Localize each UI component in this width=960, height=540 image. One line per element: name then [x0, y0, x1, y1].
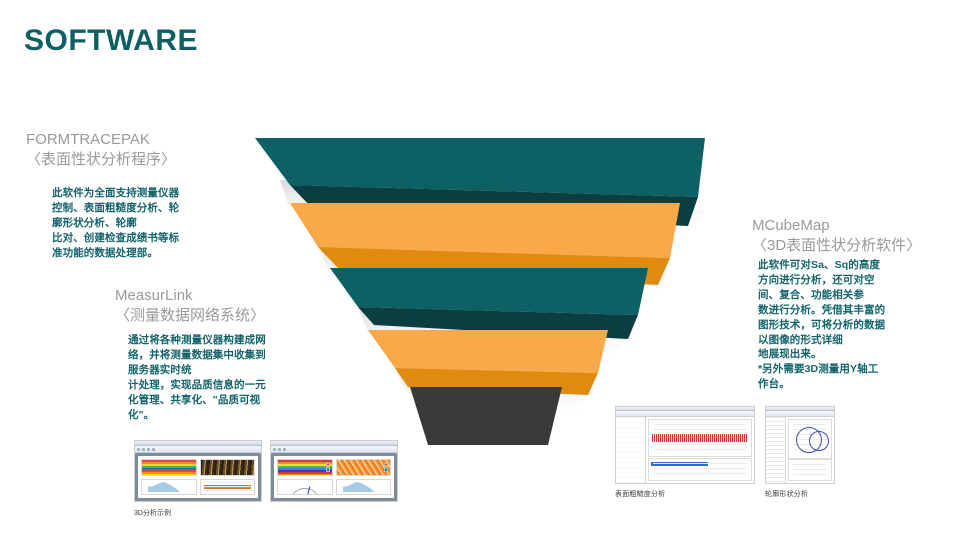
- color-scale-bar: [384, 463, 388, 472]
- results-gridlines: [793, 464, 827, 476]
- screenshot-paper: [138, 456, 258, 498]
- profile-table: [200, 479, 256, 496]
- toolbar-icon: [152, 448, 155, 451]
- tree-panel: [766, 417, 786, 483]
- polar-gauge-plot: [277, 479, 333, 496]
- thumbnail-caption-roughness: 表面粗糙度分析: [615, 489, 755, 499]
- toolbar-icon: [137, 448, 140, 451]
- results-gridlines: [653, 463, 747, 476]
- page-title: SOFTWARE: [24, 24, 198, 58]
- product-description-formtracepak: 此软件为全面支持测量仪器 控制、表面粗糙度分析、轮 廓形状分析、轮廓 比对、创建…: [52, 186, 252, 261]
- screenshot-3d-b[interactable]: [270, 440, 398, 502]
- funnel-band-5: [410, 387, 562, 445]
- screenshot-contour[interactable]: [765, 406, 835, 484]
- contour-plot: [788, 419, 832, 459]
- product-heading-mcubemap: MCubeMap 〈3D表面性状分析软件〉: [752, 216, 921, 257]
- thumbnail-row-3d: [134, 440, 398, 502]
- product-heading-formtracepak: FORMTRACEPAK 〈表面性状分析程序〉: [26, 130, 176, 171]
- thumbnail-row-analysis: 表面粗糙度分析: [615, 406, 835, 499]
- tree-panel: [616, 417, 646, 483]
- product-heading-measurlink: MeasurLink 〈测量数据网络系统〉: [115, 286, 265, 327]
- slide-canvas: SOFTWARE FORMTRACEPAK 〈表面性状分析程序〉 此软件为全面支…: [0, 0, 960, 540]
- colormap-bands: [277, 459, 333, 476]
- toolbar-icon: [142, 448, 145, 451]
- screenshot-roughness[interactable]: [615, 406, 755, 484]
- toolbar-icon: [278, 448, 281, 451]
- thumbnail-caption-contour: 轮廓形状分析: [765, 489, 835, 499]
- toolbar-icon: [147, 448, 150, 451]
- histogram-plot: [336, 479, 392, 496]
- toolbar-icon: [283, 448, 286, 451]
- screenshot-toolbar: [135, 446, 261, 453]
- surface-texture-image: [200, 459, 256, 476]
- toolbar-icon: [273, 448, 276, 451]
- results-panel: [788, 459, 832, 481]
- screenshot-paper: [274, 456, 394, 498]
- thumbnail-roughness: 表面粗糙度分析: [615, 406, 755, 499]
- colormap-bands: [141, 459, 197, 476]
- screenshot-body: [766, 417, 834, 483]
- results-panel: [648, 458, 752, 481]
- thumbnail-contour: 轮廓形状分析: [765, 406, 835, 499]
- thumbnail-group-3d: 3D分析示例: [134, 440, 398, 518]
- color-scale-bar: [326, 463, 330, 472]
- screenshot-canvas: [135, 453, 261, 501]
- screenshot-toolbar: [271, 446, 397, 453]
- histogram-plot: [141, 479, 197, 496]
- screenshot-body: [616, 417, 754, 483]
- product-description-mcubemap: 此软件可对Sa、Sq的高度 方向进行分析，还可对空 间、复合、功能相关参 数进行…: [758, 258, 958, 392]
- surface-texture-image: [336, 459, 392, 476]
- thumbnail-caption-3d: 3D分析示例: [134, 508, 398, 518]
- thumbnail-group-analysis: 表面粗糙度分析: [615, 406, 835, 499]
- roughness-trace: [652, 434, 748, 442]
- screenshot-canvas: [271, 453, 397, 501]
- profile-bar: [204, 485, 252, 489]
- roughness-profile-plot: [648, 419, 752, 457]
- screenshot-3d-a[interactable]: [134, 440, 262, 502]
